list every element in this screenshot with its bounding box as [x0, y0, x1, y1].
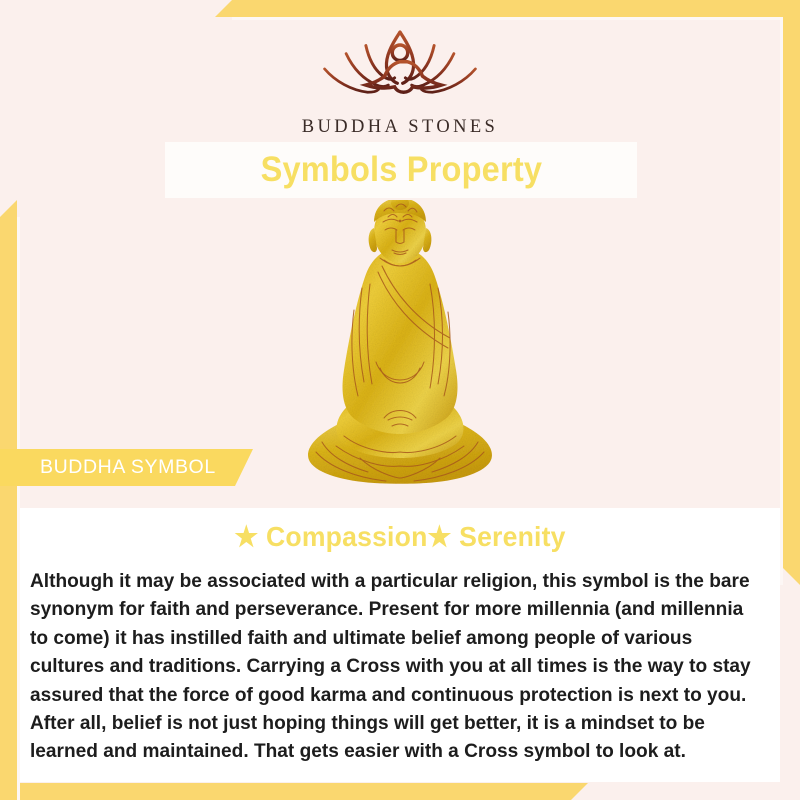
brand-logo-block: BUDDHA STONES: [0, 24, 800, 138]
page-title: Symbols Property: [260, 150, 542, 190]
lotus-meditation-logo-icon: [310, 24, 490, 112]
decor-band-bottom: [0, 783, 588, 800]
section-ribbon: BUDDHA SYMBOL: [0, 449, 253, 486]
decor-inset-line-top: [232, 17, 783, 20]
content-paragraph: Although it may be associated with a par…: [30, 567, 759, 766]
content-panel: ★ Compassion★ Serenity Although it may b…: [20, 508, 780, 782]
title-banner: Symbols Property: [165, 142, 637, 198]
content-subheading: ★ Compassion★ Serenity: [39, 520, 761, 553]
infographic-page: BUDDHA STONES Symbols Property: [0, 0, 800, 800]
decor-band-left: [0, 200, 17, 800]
seated-golden-buddha-statue-icon: [300, 200, 500, 492]
brand-name: BUDDHA STONES: [0, 117, 800, 138]
section-ribbon-label: BUDDHA SYMBOL: [0, 456, 216, 479]
decor-band-top: [215, 0, 800, 17]
hero-image: [300, 200, 500, 492]
